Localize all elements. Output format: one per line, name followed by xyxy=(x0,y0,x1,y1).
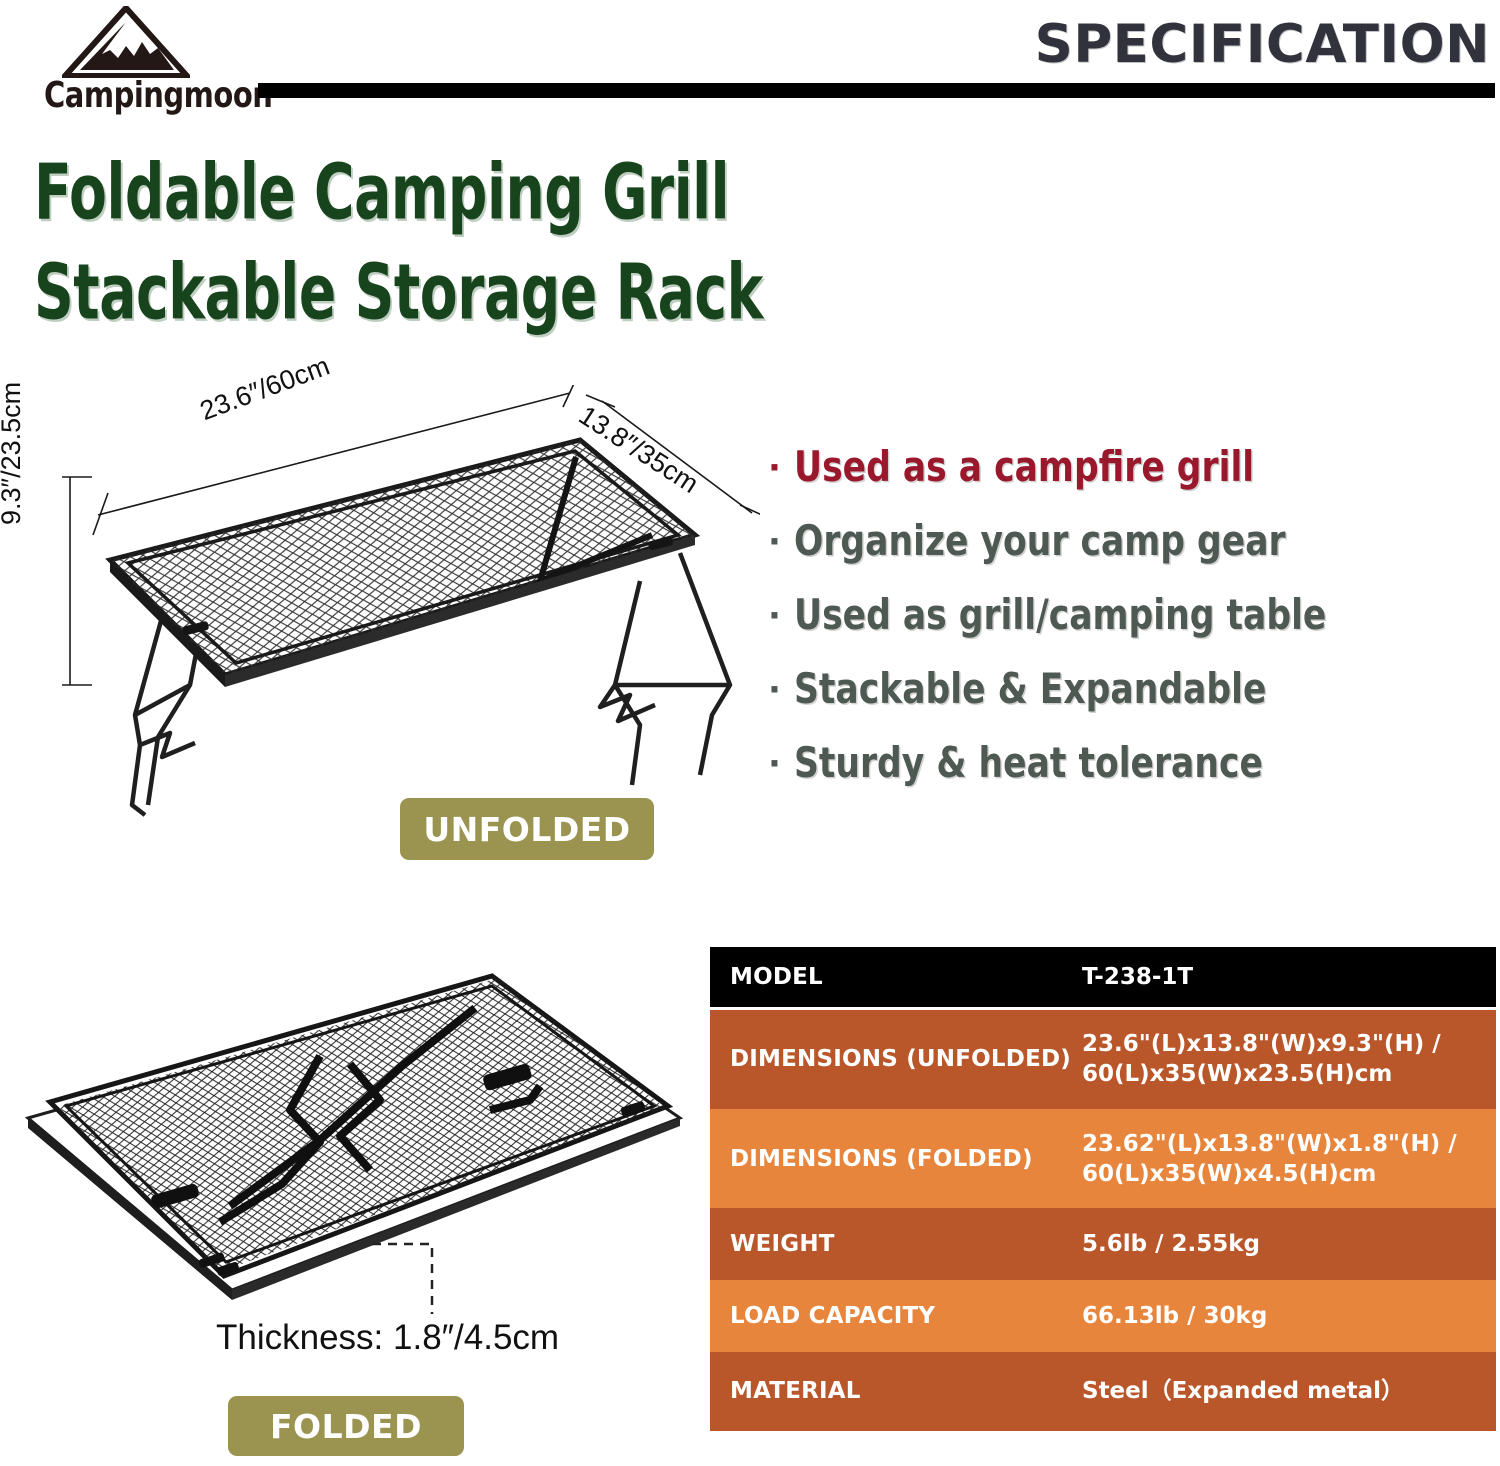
table-row-dimensions-unfolded: DIMENSIONS (UNFOLDED) 23.6"(L)x13.8"(W)x… xyxy=(710,1010,1496,1109)
header-rule xyxy=(258,83,1495,98)
table-value: 23.6"(L)x13.8"(W)x9.3"(H) / 60(L)x35(W)x… xyxy=(1082,1029,1496,1089)
table-row-weight: WEIGHT 5.6lb / 2.55kg xyxy=(710,1208,1496,1280)
table-value-line-1: 23.6"(L)x13.8"(W)x9.3"(H) / xyxy=(1082,1029,1496,1059)
feature-label: Sturdy & heat tolerance xyxy=(794,731,1263,797)
table-key: WEIGHT xyxy=(710,1229,1082,1259)
table-key: MATERIAL xyxy=(710,1376,1082,1406)
table-value: 5.6lb / 2.55kg xyxy=(1082,1229,1496,1259)
mountain-logo-icon xyxy=(62,6,190,78)
product-headline: Foldable Camping Grill Stackable Storage… xyxy=(34,143,991,343)
feature-label: Used as grill/camping table xyxy=(794,583,1326,649)
table-key-line-2: (FOLDED) xyxy=(906,1146,1032,1172)
table-value: T-238-1T xyxy=(1082,962,1496,992)
feature-item: · Stackable & Expandable xyxy=(768,662,1500,718)
feature-label: Organize your camp gear xyxy=(794,509,1286,575)
table-row-load-capacity: LOAD CAPACITY 66.13lb / 30kg xyxy=(710,1280,1496,1352)
table-value: Steel（Expanded metal） xyxy=(1082,1376,1496,1406)
bullet-dot-icon: · xyxy=(768,662,794,718)
bullet-dot-icon: · xyxy=(768,514,794,570)
table-key-line-2: (UNFOLDED) xyxy=(906,1046,1071,1072)
feature-item: · Used as grill/camping table xyxy=(768,588,1500,644)
feature-label: Used as a campfire grill xyxy=(794,435,1254,501)
feature-list: · Used as a campfire grill · Organize yo… xyxy=(768,440,1500,810)
headline-line-1: Foldable Camping Grill xyxy=(34,148,729,238)
table-value: 66.13lb / 30kg xyxy=(1082,1301,1496,1331)
table-key: DIMENSIONS (UNFOLDED) xyxy=(710,1044,1082,1074)
headline-line-2: Stackable Storage Rack xyxy=(34,243,991,343)
specification-table: MODEL T-238-1T DIMENSIONS (UNFOLDED) 23.… xyxy=(710,947,1496,1431)
table-key: MODEL xyxy=(710,962,1082,992)
brand-logo: Campingmoon xyxy=(44,6,264,110)
table-value-line-2: 60(L)x35(W)x23.5(H)cm xyxy=(1082,1059,1496,1089)
table-value-line-2: 60(L)x35(W)x4.5(H)cm xyxy=(1082,1159,1496,1189)
table-row-material: MATERIAL Steel（Expanded metal） xyxy=(710,1352,1496,1432)
table-key-line-1: DIMENSIONS xyxy=(730,1046,898,1072)
table-key: DIMENSIONS (FOLDED) xyxy=(710,1144,1082,1174)
table-value: 23.62"(L)x13.8"(W)x1.8"(H) / 60(L)x35(W)… xyxy=(1082,1129,1496,1189)
badge-unfolded: UNFOLDED xyxy=(400,798,654,860)
bullet-dot-icon: · xyxy=(768,588,794,644)
product-image-folded xyxy=(20,960,700,1305)
brand-name: Campingmoon xyxy=(44,74,272,115)
table-key-line-1: DIMENSIONS xyxy=(730,1146,898,1172)
specification-page: Campingmoon SPECIFICATION Foldable Campi… xyxy=(0,0,1500,1466)
feature-item: · Organize your camp gear xyxy=(768,514,1500,570)
feature-item: · Used as a campfire grill xyxy=(768,440,1500,496)
table-value-line-1: 23.62"(L)x13.8"(W)x1.8"(H) / xyxy=(1082,1129,1496,1159)
table-row-dimensions-folded: DIMENSIONS (FOLDED) 23.62"(L)x13.8"(W)x1… xyxy=(710,1109,1496,1208)
table-row-model: MODEL T-238-1T xyxy=(710,947,1496,1007)
feature-item: · Sturdy & heat tolerance xyxy=(768,736,1500,792)
thickness-callout-bracket xyxy=(370,1240,440,1320)
thickness-label: Thickness: 1.8″/4.5cm xyxy=(216,1318,559,1358)
bullet-dot-icon: · xyxy=(768,440,794,496)
bullet-dot-icon: · xyxy=(768,736,794,792)
page-title: SPECIFICATION xyxy=(1035,14,1490,75)
table-key: LOAD CAPACITY xyxy=(710,1301,1082,1331)
feature-label: Stackable & Expandable xyxy=(794,657,1266,723)
badge-folded: FOLDED xyxy=(228,1396,464,1456)
dimension-height-label: 9.3″/23.5cm xyxy=(0,382,27,525)
